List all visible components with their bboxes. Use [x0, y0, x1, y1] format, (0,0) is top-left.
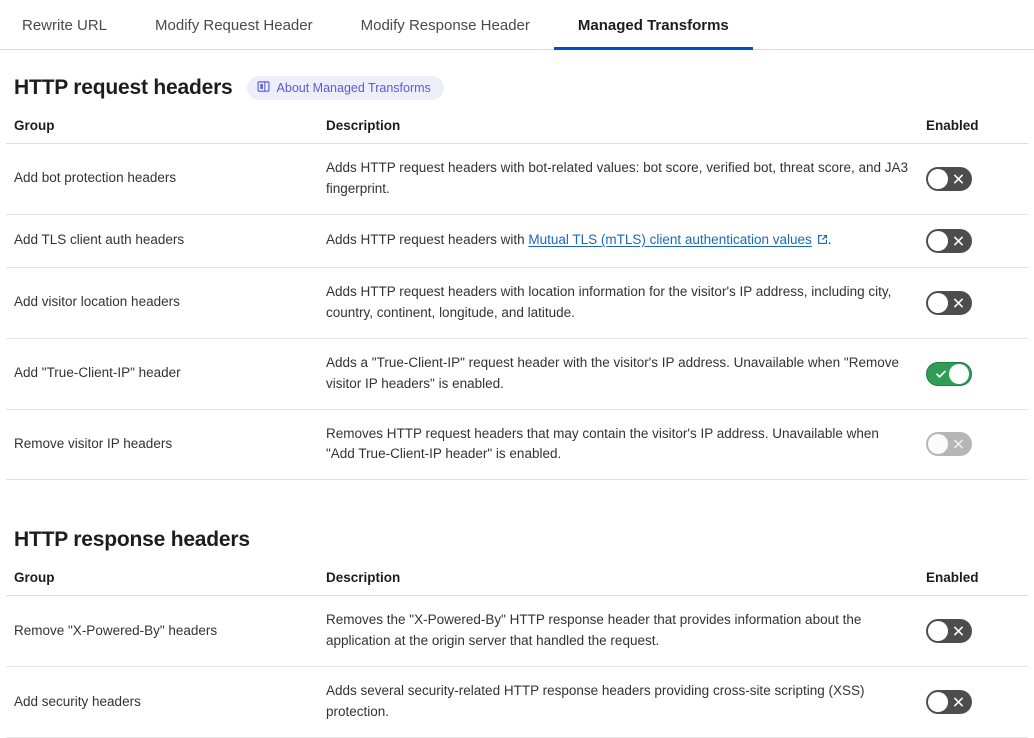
tab-modify-request-header[interactable]: Modify Request Header: [131, 18, 337, 50]
row-description: Adds HTTP request headers with location …: [318, 267, 918, 338]
mtls-docs-link[interactable]: Mutual TLS (mTLS) client authentication …: [528, 232, 811, 247]
close-icon: [953, 439, 964, 450]
toggle-knob: [928, 692, 948, 712]
row-description: Removes HTTP request headers that may co…: [318, 409, 918, 480]
toggle-add-bot-protection-headers[interactable]: [926, 167, 972, 191]
row-group-name: Add "True-Client-IP" header: [6, 338, 318, 409]
table-row: Add security headers Adds several securi…: [6, 667, 1028, 738]
row-group-name: Remove visitor IP headers: [6, 409, 318, 480]
toggle-knob: [928, 169, 948, 189]
book-icon: [257, 80, 270, 96]
row-description: Removes the "X-Powered-By" HTTP response…: [318, 596, 918, 667]
http-response-headers-section: HTTP response headers Group Description …: [6, 502, 1028, 738]
row-enabled-cell: [918, 667, 1028, 738]
row-enabled-cell: [918, 144, 1028, 215]
table-row: Add bot protection headers Adds HTTP req…: [6, 144, 1028, 215]
table-row: Remove visitor IP headers Removes HTTP r…: [6, 409, 1028, 480]
row-group-name: Remove "X-Powered-By" headers: [6, 596, 318, 667]
check-icon: [935, 368, 947, 380]
table-row: Add visitor location headers Adds HTTP r…: [6, 267, 1028, 338]
row-description: Adds HTTP request headers with Mutual TL…: [318, 214, 918, 267]
request-headers-table: Group Description Enabled Add bot protec…: [6, 114, 1028, 480]
toggle-remove-visitor-ip-headers: [926, 432, 972, 456]
toggle-knob: [928, 293, 948, 313]
request-section-title: HTTP request headers: [14, 76, 233, 100]
row-group-name: Add visitor location headers: [6, 267, 318, 338]
toggle-add-security-headers[interactable]: [926, 690, 972, 714]
column-header-group: Group: [6, 114, 318, 144]
column-header-group: Group: [6, 566, 318, 596]
close-icon: [953, 235, 964, 246]
page-content: HTTP request headers About Managed Trans…: [0, 50, 1034, 738]
close-icon: [953, 297, 964, 308]
table-row: Add "True-Client-IP" header Adds a "True…: [6, 338, 1028, 409]
table-header-row: Group Description Enabled: [6, 114, 1028, 144]
row-description: Adds a "True-Client-IP" request header w…: [318, 338, 918, 409]
close-icon: [953, 697, 964, 708]
external-link-icon[interactable]: [817, 231, 828, 252]
row-enabled-cell: [918, 338, 1028, 409]
toggle-knob: [949, 364, 969, 384]
toggle-remove-x-powered-by-headers[interactable]: [926, 619, 972, 643]
toggle-add-tls-client-auth-headers[interactable]: [926, 229, 972, 253]
request-section-header: HTTP request headers About Managed Trans…: [6, 50, 1028, 114]
row-group-name: Add security headers: [6, 667, 318, 738]
row-enabled-cell: [918, 596, 1028, 667]
about-managed-transforms-badge[interactable]: About Managed Transforms: [247, 76, 444, 100]
toggle-knob: [928, 621, 948, 641]
column-header-description: Description: [318, 114, 918, 144]
toggle-add-visitor-location-headers[interactable]: [926, 291, 972, 315]
row-group-name: Add TLS client auth headers: [6, 214, 318, 267]
tab-rewrite-url[interactable]: Rewrite URL: [0, 18, 131, 50]
row-enabled-cell: [918, 267, 1028, 338]
row-enabled-cell: [918, 409, 1028, 480]
tab-managed-transforms[interactable]: Managed Transforms: [554, 18, 753, 50]
close-icon: [953, 626, 964, 637]
tab-modify-response-header[interactable]: Modify Response Header: [337, 18, 554, 50]
table-header-row: Group Description Enabled: [6, 566, 1028, 596]
column-header-enabled: Enabled: [918, 566, 1028, 596]
row-enabled-cell: [918, 214, 1028, 267]
description-suffix: .: [828, 232, 832, 247]
table-row: Remove "X-Powered-By" headers Removes th…: [6, 596, 1028, 667]
row-description: Adds HTTP request headers with bot-relat…: [318, 144, 918, 215]
description-prefix: Adds HTTP request headers with: [326, 232, 528, 247]
column-header-description: Description: [318, 566, 918, 596]
close-icon: [953, 173, 964, 184]
http-request-headers-section: HTTP request headers About Managed Trans…: [6, 50, 1028, 480]
response-section-header: HTTP response headers: [6, 502, 1028, 566]
toggle-knob: [928, 434, 948, 454]
toggle-add-true-client-ip-header[interactable]: [926, 362, 972, 386]
column-header-enabled: Enabled: [918, 114, 1028, 144]
response-headers-table: Group Description Enabled Remove "X-Powe…: [6, 566, 1028, 738]
section-spacer: [6, 480, 1028, 502]
table-row: Add TLS client auth headers Adds HTTP re…: [6, 214, 1028, 267]
row-group-name: Add bot protection headers: [6, 144, 318, 215]
tab-bar: Rewrite URL Modify Request Header Modify…: [0, 0, 1034, 50]
row-description: Adds several security-related HTTP respo…: [318, 667, 918, 738]
response-section-title: HTTP response headers: [14, 528, 250, 552]
toggle-knob: [928, 231, 948, 251]
about-badge-label: About Managed Transforms: [277, 81, 431, 95]
